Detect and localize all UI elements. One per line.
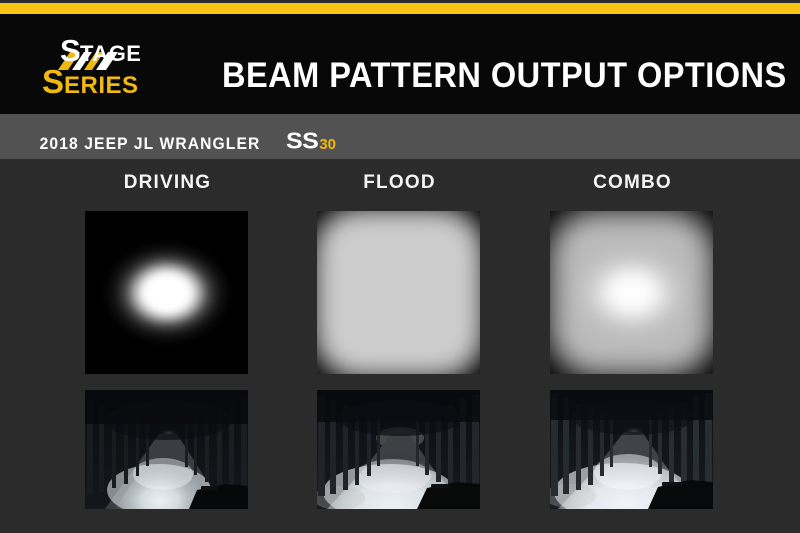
stage-series-logo: S TAGE S ERIES (36, 26, 186, 104)
product-model-number: 30 (319, 136, 336, 153)
header-band: S TAGE S ERIES BEAM PATTERN OUTPUT OPTIO… (0, 14, 800, 114)
logo-word-series: S (42, 63, 65, 100)
beam-option-heading: FLOOD (317, 172, 482, 194)
beam-option-heading: DRIVING (85, 172, 250, 194)
beam-pattern-render (85, 211, 248, 374)
road-photo-combo (550, 390, 713, 509)
beam-option-heading: COMBO (550, 172, 715, 194)
product-model-prefix: SS (286, 128, 318, 155)
svg-text:ERIES: ERIES (64, 72, 139, 99)
road-photo-driving (85, 390, 248, 509)
beam-pattern-render (550, 211, 713, 374)
svg-text:TAGE: TAGE (80, 41, 141, 66)
page-title: BEAM PATTERN OUTPUT OPTIONS (222, 58, 787, 93)
beam-pattern-image-combo (550, 211, 713, 374)
beam-spread (317, 211, 480, 374)
road-photo-flood (317, 390, 480, 509)
top-accent-stripe (0, 3, 800, 14)
vehicle-model-line: 2018 JEEP JL WRANGLER SS 30 (30, 127, 336, 156)
content-area: DRIVING (0, 159, 800, 533)
beam-pattern-render (317, 211, 480, 374)
beam-pattern-image-flood (317, 211, 480, 374)
beam-hotspot (92, 233, 242, 353)
beam-hotspot (566, 241, 698, 345)
vehicle-name: 2018 JEEP JL WRANGLER (40, 134, 261, 154)
beam-option-columns: DRIVING (0, 159, 800, 533)
subtitle-band: 2018 JEEP JL WRANGLER SS 30 (0, 114, 800, 159)
beam-pattern-image-driving (85, 211, 248, 374)
